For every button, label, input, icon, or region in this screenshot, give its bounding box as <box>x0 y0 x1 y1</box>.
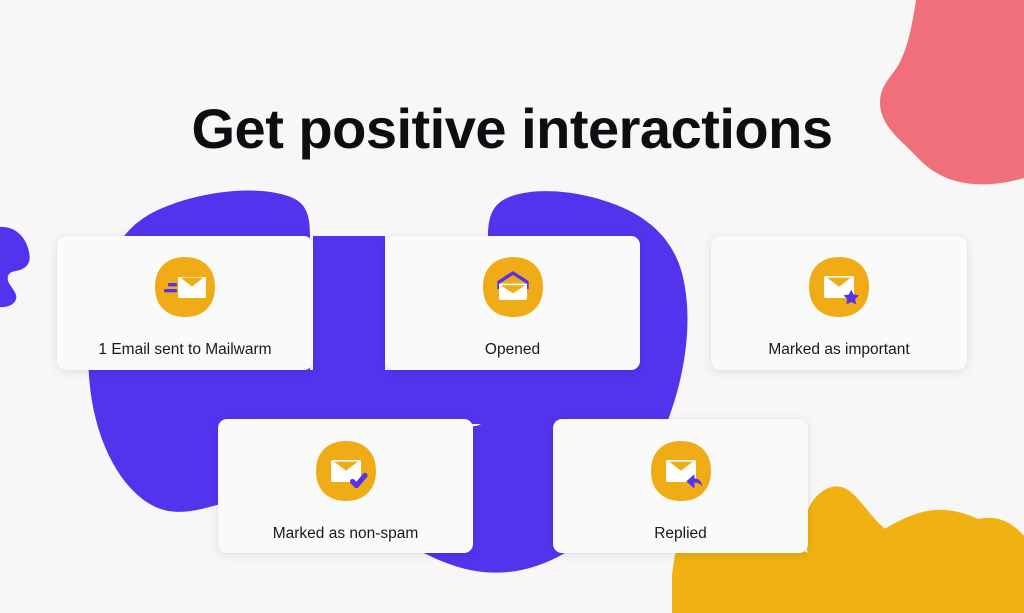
card-opened[interactable]: Opened <box>385 236 640 370</box>
page-title: Get positive interactions <box>0 96 1024 162</box>
speed-line-top <box>168 283 177 286</box>
envelope-check-icon <box>314 439 378 503</box>
purple-blob-center-fill <box>313 236 385 419</box>
envelope-sent-icon <box>153 255 217 319</box>
card-label: 1 Email sent to Mailwarm <box>98 340 271 359</box>
card-replied[interactable]: Replied <box>553 419 808 553</box>
card-label: Replied <box>654 524 707 543</box>
card-marked-important[interactable]: Marked as important <box>711 236 967 370</box>
envelope-reply-icon <box>649 439 713 503</box>
purple-blob-center-fill-lower <box>104 370 488 424</box>
card-email-sent[interactable]: 1 Email sent to Mailwarm <box>57 236 313 370</box>
card-label: Marked as important <box>768 340 909 359</box>
card-label: Marked as non-spam <box>273 524 419 543</box>
card-label: Opened <box>485 340 540 359</box>
envelope-star-icon <box>807 255 871 319</box>
illustration-stage: Get positive interactions 1 Email sent t… <box>0 0 1024 613</box>
card-marked-non-spam[interactable]: Marked as non-spam <box>218 419 473 553</box>
envelope-opened-icon <box>481 255 545 319</box>
purple-blob-left-edge <box>0 227 30 307</box>
speed-line-bottom <box>164 289 177 292</box>
